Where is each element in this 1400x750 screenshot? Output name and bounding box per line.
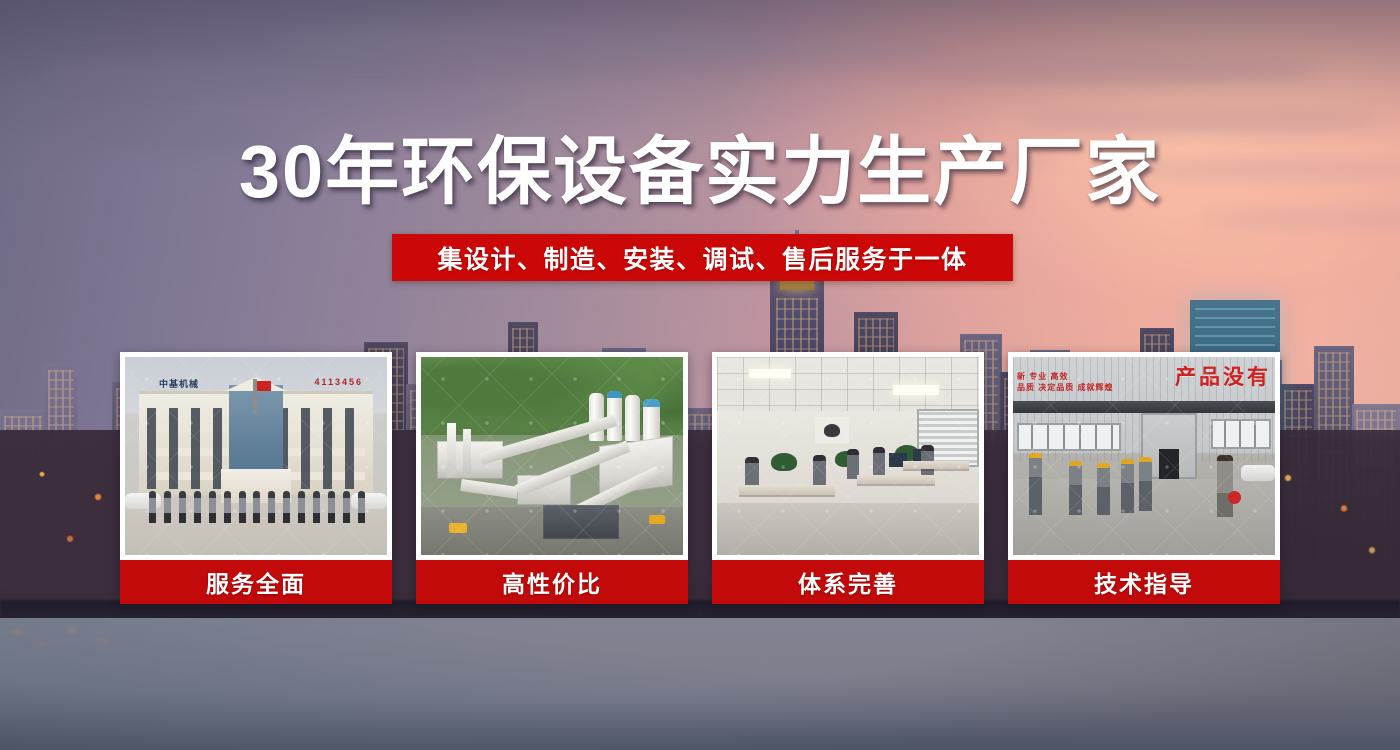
page-title: 30年环保设备实力生产厂家 — [0, 133, 1400, 211]
subtitle-text: 集设计、制造、安装、调试、售后服务于一体 — [437, 240, 967, 276]
feature-card[interactable]: 中基机械 4113456 服务全面 — [120, 352, 392, 604]
cloud — [900, 52, 1320, 86]
wall-poster — [815, 417, 849, 443]
feature-card-grid: 中基机械 4113456 服务全面 — [120, 352, 1280, 604]
cloud — [260, 22, 780, 62]
feature-card-label-text: 体系完善 — [798, 565, 898, 599]
river-light-reflections — [0, 620, 420, 680]
hero-banner: 30年环保设备实力生产厂家 集设计、制造、安装、调试、售后服务于一体 中基机械 … — [0, 0, 1400, 750]
factory-banner-text: 产品没有 — [1175, 361, 1271, 391]
feature-card[interactable]: 产品没有 新 专业 高效品质 决定品质 成就辉煌 技术指导 — [1008, 352, 1280, 604]
company-sign-text: 中基机械 — [159, 377, 199, 390]
factory-workers-training-photo: 产品没有 新 专业 高效品质 决定品质 成就辉煌 — [1013, 357, 1275, 555]
factory-slogan-text: 新 专业 高效品质 决定品质 成就辉煌 — [1017, 371, 1113, 393]
feature-card-label: 体系完善 — [712, 560, 984, 604]
subtitle-banner: 集设计、制造、安装、调试、售后服务于一体 — [392, 234, 1013, 281]
cloud — [180, 96, 510, 114]
feature-card-label-text: 技术指导 — [1094, 565, 1194, 599]
company-building-staff-photo: 中基机械 4113456 — [125, 357, 387, 555]
feature-card-label-text: 高性价比 — [502, 565, 602, 599]
cloud — [40, 60, 460, 86]
feature-card-label: 服务全面 — [120, 560, 392, 604]
cloud — [1020, 110, 1380, 132]
feature-card-label: 技术指导 — [1008, 560, 1280, 604]
staff-row — [149, 491, 365, 525]
feature-card[interactable]: 高性价比 — [416, 352, 688, 604]
flag-icon — [253, 379, 257, 413]
feature-card-label-text: 服务全面 — [206, 565, 306, 599]
feature-card[interactable]: 体系完善 — [712, 352, 984, 604]
office-interior-staff-photo — [717, 357, 979, 555]
phone-number-text: 4113456 — [314, 377, 363, 387]
red-helmet-icon — [1228, 491, 1241, 504]
feature-card-label: 高性价比 — [416, 560, 688, 604]
aerial-industrial-plant-photo — [421, 357, 683, 555]
